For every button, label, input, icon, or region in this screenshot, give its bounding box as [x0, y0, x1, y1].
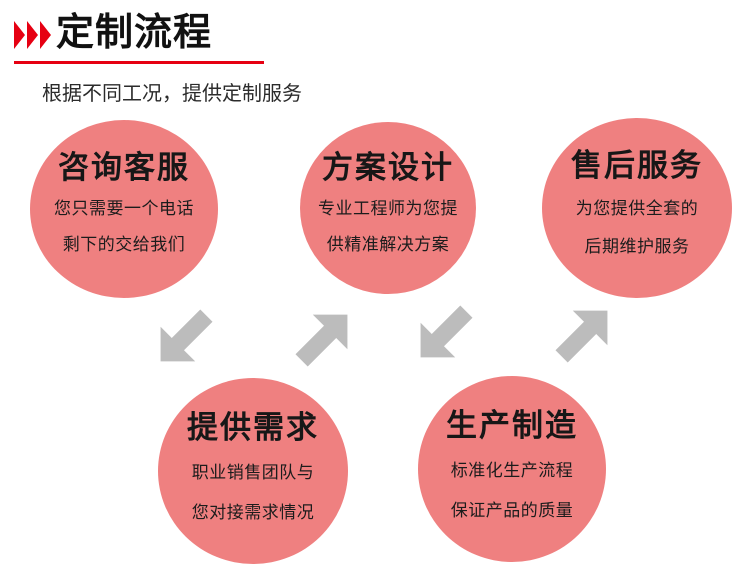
flow-node-manufacture[interactable]: 生产制造 标准化生产流程 保证产品的质量	[418, 376, 606, 562]
double-chevron-right-icon	[14, 18, 58, 52]
flow-node-title: 生产制造	[446, 408, 578, 444]
flow-node-title: 售后服务	[571, 148, 703, 184]
flow-node-design[interactable]: 方案设计 专业工程师为您提 供精准解决方案	[300, 122, 476, 294]
flow-node-desc-line2: 剩下的交给我们	[63, 232, 186, 258]
page-header: 定制流程 根据不同工况，提供定制服务	[0, 0, 750, 70]
flow-node-aftersales[interactable]: 售后服务 为您提供全套的 后期维护服务	[542, 118, 732, 298]
page-subtitle: 根据不同工况，提供定制服务	[42, 79, 302, 109]
arrow-up-right-icon	[288, 302, 360, 374]
flow-node-desc-line1: 标准化生产流程	[451, 458, 574, 484]
page-title: 定制流程	[56, 10, 212, 56]
chevron-right-icon-1	[14, 21, 25, 49]
flow-node-desc-line1: 您只需要一个电话	[54, 196, 194, 222]
title-underline-rule	[14, 61, 264, 64]
flow-diagram-canvas: 定制流程 根据不同工况，提供定制服务 咨询客服 您只需要一个电话 剩下的交给我们…	[0, 0, 750, 576]
arrow-up-right-icon	[548, 298, 620, 370]
flow-node-requirement[interactable]: 提供需求 职业销售团队与 您对接需求情况	[158, 378, 348, 564]
flow-node-desc-line1: 专业工程师为您提	[318, 196, 458, 222]
arrow-down-right-icon	[148, 302, 220, 374]
flow-node-title: 咨询客服	[58, 150, 190, 186]
flow-node-title: 方案设计	[322, 150, 454, 186]
flow-node-desc-line2: 您对接需求情况	[192, 500, 315, 526]
flow-node-title: 提供需求	[187, 410, 319, 446]
flow-node-desc-line1: 为您提供全套的	[576, 196, 699, 222]
flow-node-desc-line2: 保证产品的质量	[451, 498, 574, 524]
flow-node-desc-line1: 职业销售团队与	[192, 460, 315, 486]
arrow-down-right-icon	[408, 298, 480, 370]
chevron-right-icon-2	[27, 21, 38, 49]
flow-node-desc-line2: 供精准解决方案	[327, 232, 450, 258]
flow-node-consult[interactable]: 咨询客服 您只需要一个电话 剩下的交给我们	[30, 120, 218, 298]
flow-node-desc-line2: 后期维护服务	[585, 234, 690, 260]
chevron-right-icon-3	[40, 21, 51, 49]
